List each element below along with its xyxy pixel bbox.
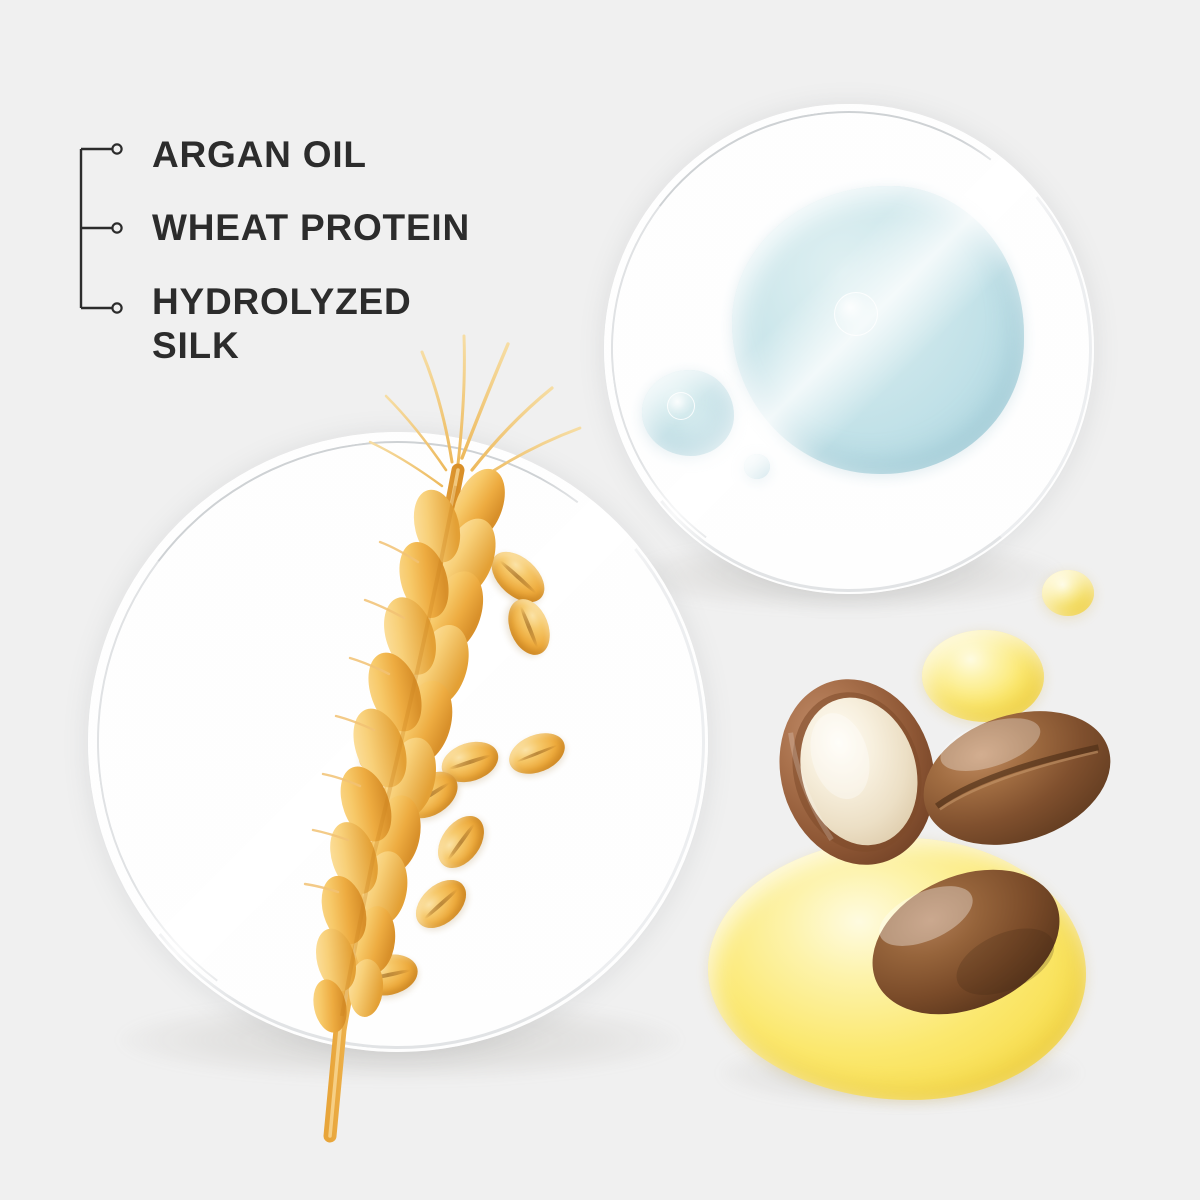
petri-dish-blue-gel bbox=[604, 104, 1094, 594]
ingredient-label-wheat-protein: WHEAT PROTEIN bbox=[152, 206, 470, 250]
argan-nut-whole-right bbox=[916, 692, 1118, 864]
ingredient-label-argan-oil: ARGAN OIL bbox=[152, 133, 367, 177]
infographic-canvas: ARGAN OIL WHEAT PROTEIN HYDROLYZED SILK bbox=[0, 0, 1200, 1200]
bracket-marker-wheat bbox=[112, 223, 121, 232]
bracket-marker-silk bbox=[112, 303, 121, 312]
argan-nut-whole-front bbox=[862, 852, 1070, 1032]
bracket-marker-argan bbox=[112, 144, 121, 153]
gel-dish-rim-highlight bbox=[604, 104, 1094, 594]
argan-shell bbox=[906, 688, 1128, 867]
ingredient-label-hydrolyzed-silk: HYDROLYZED SILK bbox=[152, 280, 412, 367]
argan-oil-droplet-small bbox=[1042, 570, 1094, 616]
